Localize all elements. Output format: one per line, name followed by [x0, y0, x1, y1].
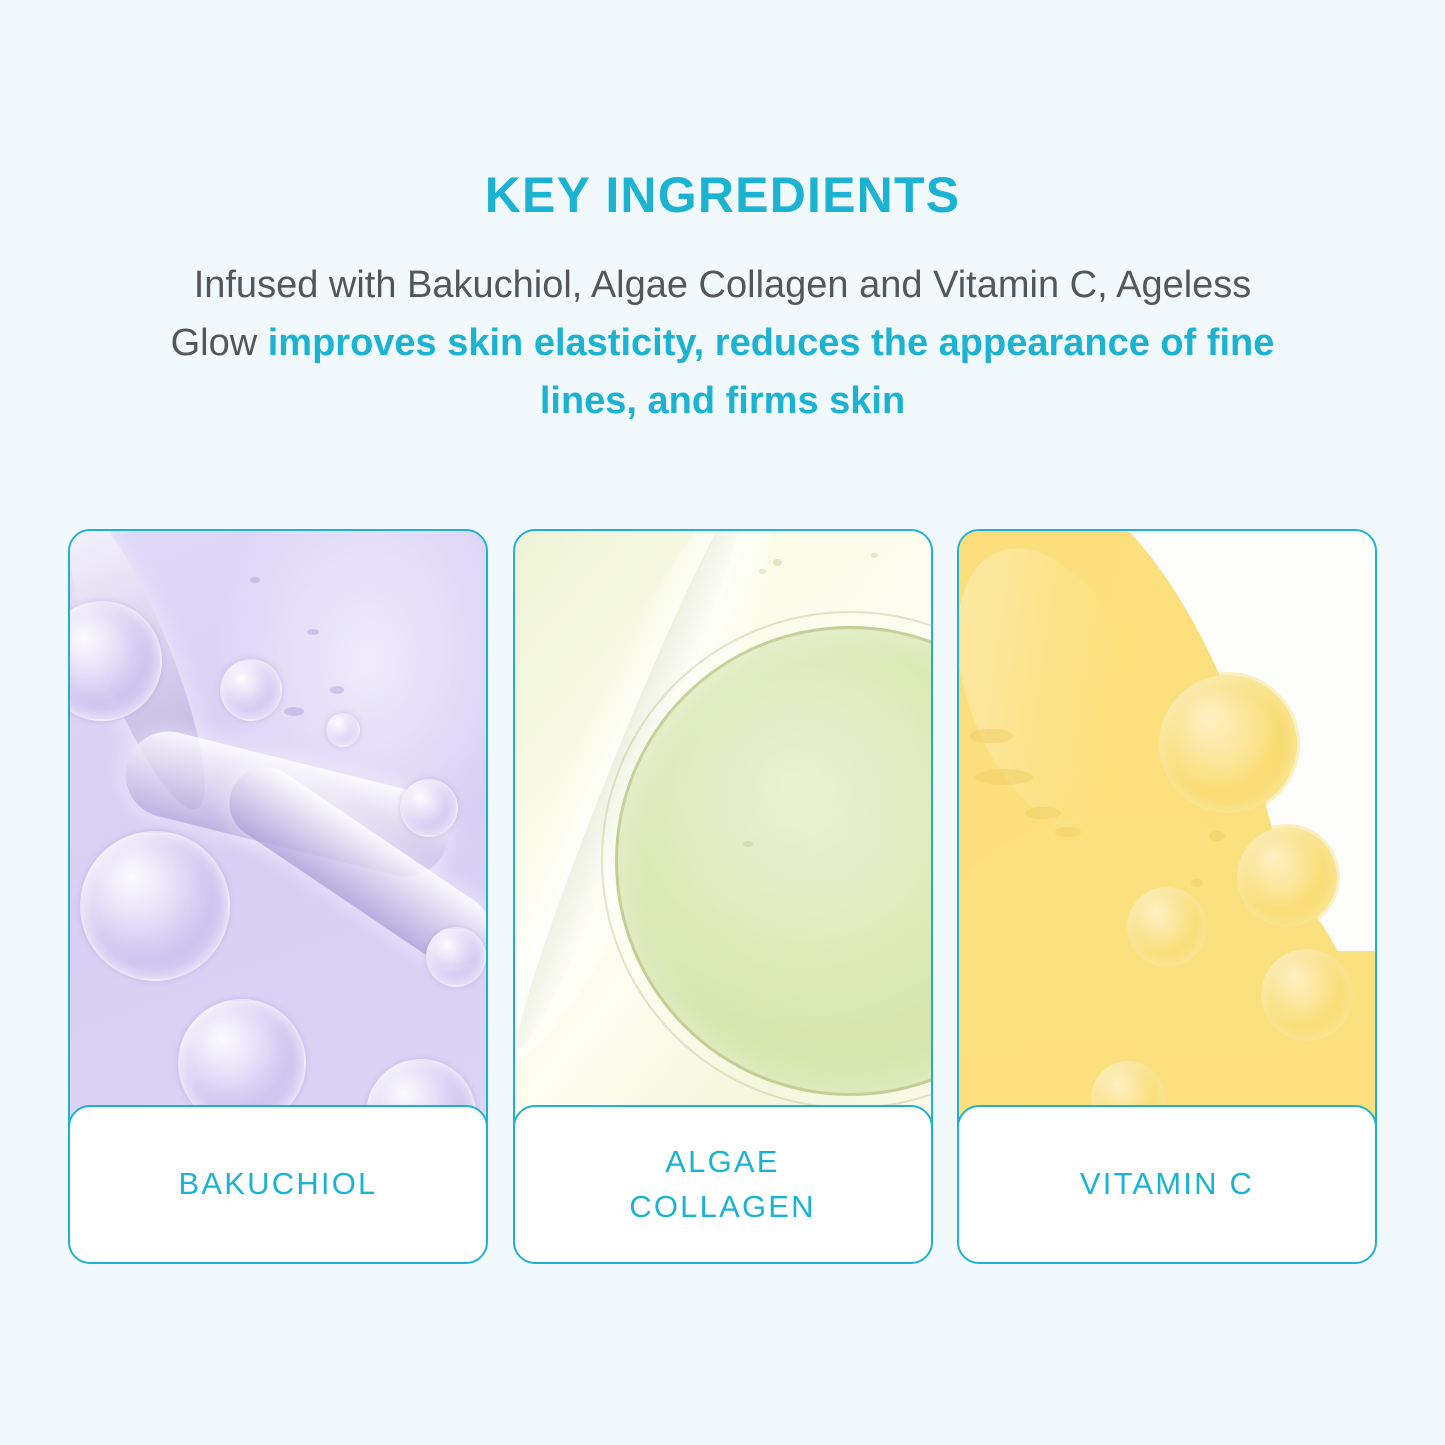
ingredient-label-text: VITAMIN C — [1080, 1162, 1254, 1206]
green-speck — [743, 841, 753, 847]
header: KEY INGREDIENTS Infused with Bakuchiol, … — [0, 0, 1445, 430]
yellow-speck — [1209, 831, 1225, 841]
ingredient-label-text: BAKUCHIOL — [179, 1162, 378, 1206]
yellow-speck — [975, 769, 1033, 785]
yellow-speck — [1191, 879, 1203, 887]
yellow-speck — [1025, 807, 1061, 819]
green-speck — [759, 569, 766, 574]
purple-bubble — [220, 659, 282, 721]
ingredient-card-algae-collagen[interactable]: ALGAE COLLAGEN — [513, 529, 933, 1264]
purple-speck — [330, 686, 344, 694]
ingredient-label-plate: VITAMIN C — [957, 1105, 1377, 1264]
yellow-bubble — [1159, 675, 1297, 813]
ingredient-label-plate: BAKUCHIOL — [68, 1105, 488, 1264]
subtitle-highlight-text: improves skin elasticity, reduces the ap… — [268, 322, 1275, 422]
purple-bubble — [80, 831, 230, 981]
purple-speck — [307, 629, 319, 635]
yellow-bubble — [1237, 827, 1337, 927]
purple-speck — [284, 707, 304, 716]
purple-bubble — [400, 779, 458, 837]
purple-speck — [250, 577, 260, 583]
green-speck — [871, 553, 878, 558]
ingredient-label-plate: ALGAE COLLAGEN — [513, 1105, 933, 1264]
ingredient-card-vitamin-c[interactable]: VITAMIN C — [957, 529, 1377, 1264]
yellow-bubble — [1261, 949, 1353, 1041]
page-title: KEY INGREDIENTS — [0, 168, 1445, 223]
purple-bubble — [326, 713, 360, 747]
green-speck — [773, 559, 782, 566]
yellow-speck — [1055, 827, 1081, 837]
purple-bubble — [426, 927, 486, 987]
subtitle: Infused with Bakuchiol, Algae Collagen a… — [118, 257, 1328, 430]
yellow-bubble — [1127, 887, 1207, 967]
ingredient-card-list: BAKUCHIOL ALGAE COLLAGEN — [68, 529, 1377, 1264]
ingredient-card-bakuchiol[interactable]: BAKUCHIOL — [68, 529, 488, 1264]
ingredient-label-text: ALGAE COLLAGEN — [629, 1140, 815, 1228]
yellow-speck — [969, 729, 1013, 743]
